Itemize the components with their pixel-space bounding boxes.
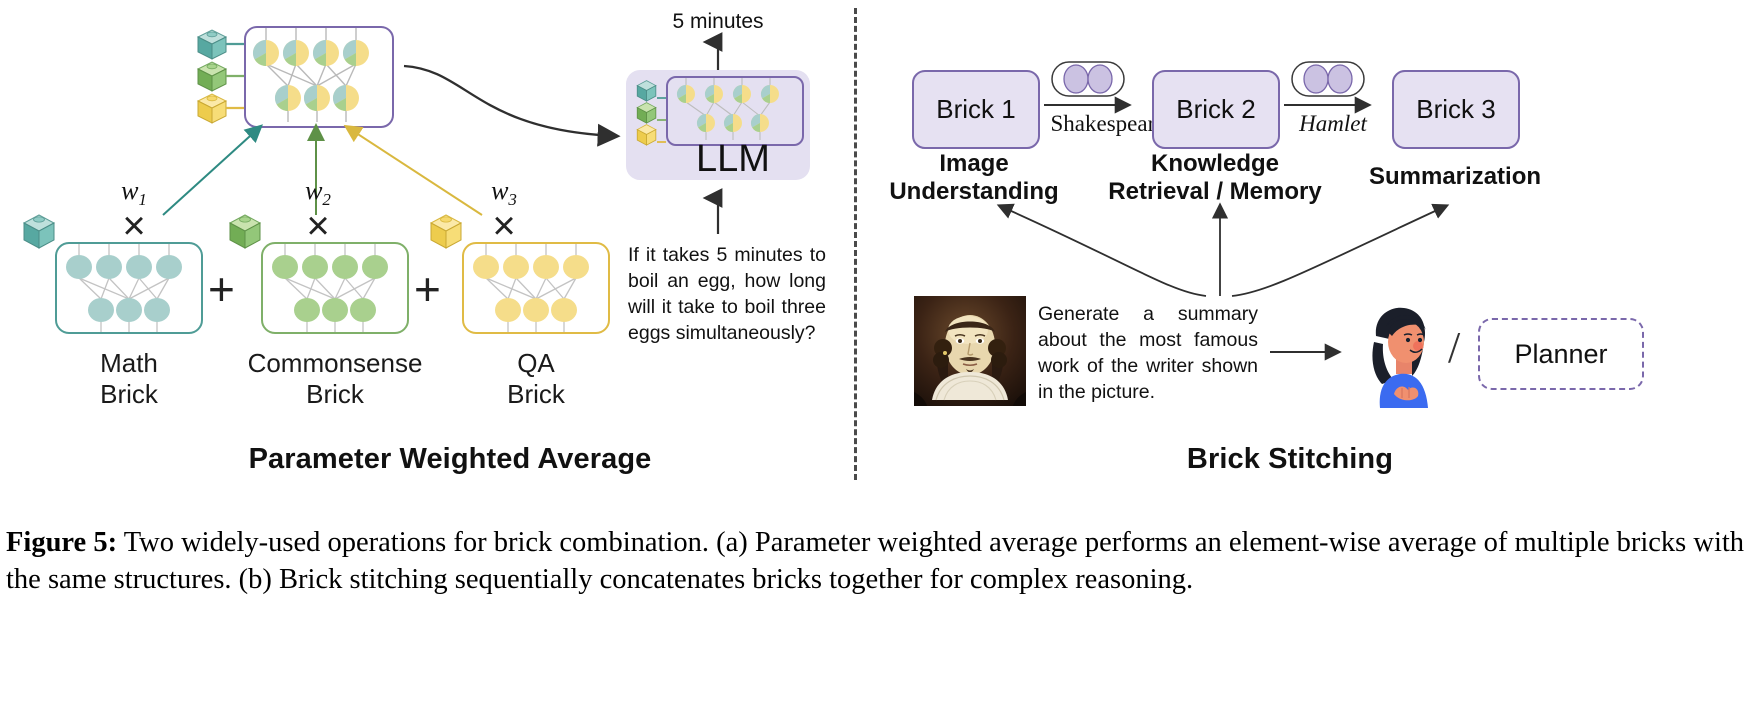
merged-neurons [253,40,369,111]
llm-inner-brick-box [666,76,804,146]
brick-label-commonsense: Commonsense Brick [246,348,424,410]
figure-caption-label: Figure 5: [6,527,117,558]
query-to-agent-arrow [1268,343,1348,361]
query-dispatch-arrows [930,196,1570,300]
brick-label-line1: Commonsense [246,348,424,379]
caption-line1: Summarization [1350,163,1560,191]
plus-operator-2: + [414,262,441,316]
weight-2: w2 × [288,176,348,244]
planner-box[interactable]: Planner [1478,318,1644,390]
right-panel: Brick 1 Image Understanding Shakespeare … [870,0,1754,500]
merged-network-svg [246,28,388,122]
stitch-brick-1[interactable]: Brick 1 [912,70,1040,149]
multiply-operator-1: × [104,208,164,244]
plus-operator-1: + [208,262,235,316]
weight-1: w1 × [104,176,164,244]
stitch-edge-label-2: Hamlet [1278,111,1388,137]
portrait-image [914,296,1026,406]
llm-panel: LLM [626,70,810,180]
weight-symbol: w [305,176,322,205]
stitch-brick-3-label: Brick 3 [1416,94,1495,125]
stitch-brick-2-label: Brick 2 [1176,94,1255,125]
brick-box-qa [462,242,610,334]
query-text: Generate a summary about the most famous… [1038,302,1258,406]
llm-cubes [636,80,662,146]
source-brick-qa [429,214,463,250]
stitch-brick-3-caption: Summarization [1350,163,1560,191]
separator-slash: / [1448,322,1460,373]
agent-person-illustration [1352,302,1444,408]
cube-yellow-icon [429,214,463,250]
arrow-teal [163,127,260,215]
caption-line1: Knowledge [1094,150,1336,178]
brick-box-math [55,242,203,334]
left-panel: w1 × w2 × w3 × [0,0,860,500]
source-brick-commonsense [228,214,262,250]
weight-3: w3 × [474,176,534,244]
brick-network-commonsense [263,244,407,332]
merged-brick-box [244,26,394,128]
brick-label-math: Math Brick [55,348,203,410]
merge-to-llm-arrow [398,60,638,150]
weight-symbol: w [491,176,508,205]
figure-caption: Figure 5: Two widely-used operations for… [6,524,1750,598]
llm-title: LLM [666,138,800,181]
left-panel-title: Parameter Weighted Average [130,443,770,476]
multiply-operator-2: × [288,208,348,244]
caption-line1: Image [874,150,1074,178]
shakespeare-portrait [914,296,1026,406]
brick-label-line2: Brick [246,379,424,410]
cube-green-icon [198,62,226,91]
cube-yellow-icon [198,94,226,123]
planner-label: Planner [1514,339,1607,370]
llm-network-svg [668,78,798,140]
brick-label-line1: QA [462,348,610,379]
answer-arrow [712,34,724,70]
brick-network-qa [464,244,608,332]
stitch-brick-3[interactable]: Brick 3 [1392,70,1520,149]
panel-divider [854,8,857,480]
person-icon [1352,302,1444,408]
brick-label-line2: Brick [462,379,610,410]
token-pill-icon-1 [1050,60,1126,98]
brick-label-line2: Brick [55,379,203,410]
brick-box-commonsense [261,242,409,334]
cube-green-icon [228,214,262,250]
right-panel-title: Brick Stitching [1030,443,1550,476]
figure-canvas: w1 × w2 × w3 × [0,0,1754,724]
token-pill-icon-2 [1290,60,1366,98]
brick-label-line1: Math [55,348,203,379]
figure-caption-text: Two widely-used operations for brick com… [6,527,1744,595]
cube-teal-icon [198,30,226,59]
brick-network-math [57,244,201,332]
stitch-brick-1-label: Brick 1 [936,94,1015,125]
brick-label-qa: QA Brick [462,348,610,410]
llm-answer-label: 5 minutes [648,10,788,34]
stitch-brick-2[interactable]: Brick 2 [1152,70,1280,149]
llm-mini-brick [636,80,662,146]
cube-teal-icon [22,214,56,250]
weight-symbol: w [121,176,138,205]
multiply-operator-3: × [474,208,534,244]
llm-prompt-text: If it takes 5 minutes to boil an egg, ho… [628,243,826,347]
prompt-to-llm-arrow [712,190,724,234]
